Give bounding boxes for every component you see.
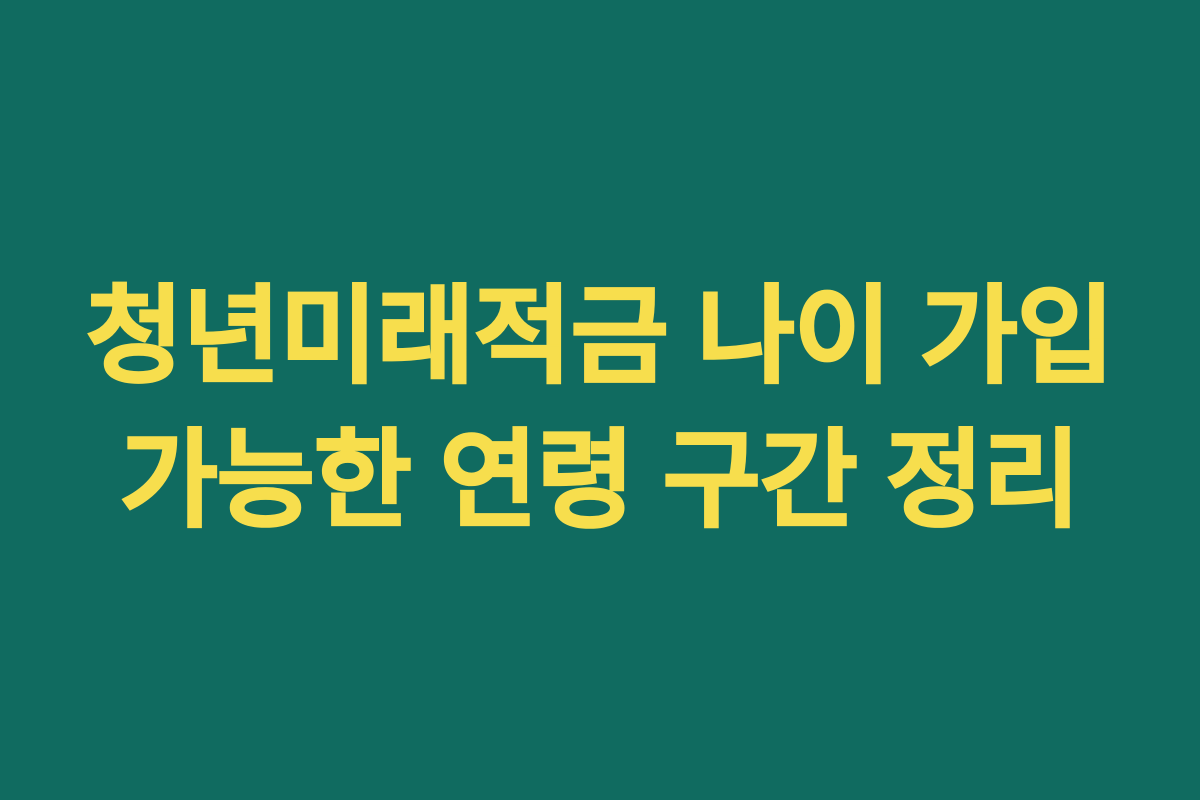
title-line-1: 청년미래적금 나이 가입	[86, 265, 1114, 409]
title-line-2: 가능한 연령 구간 정리	[120, 409, 1080, 553]
thumbnail-card: 청년미래적금 나이 가입 가능한 연령 구간 정리	[0, 0, 1200, 800]
title-block: 청년미래적금 나이 가입 가능한 연령 구간 정리	[0, 265, 1200, 553]
